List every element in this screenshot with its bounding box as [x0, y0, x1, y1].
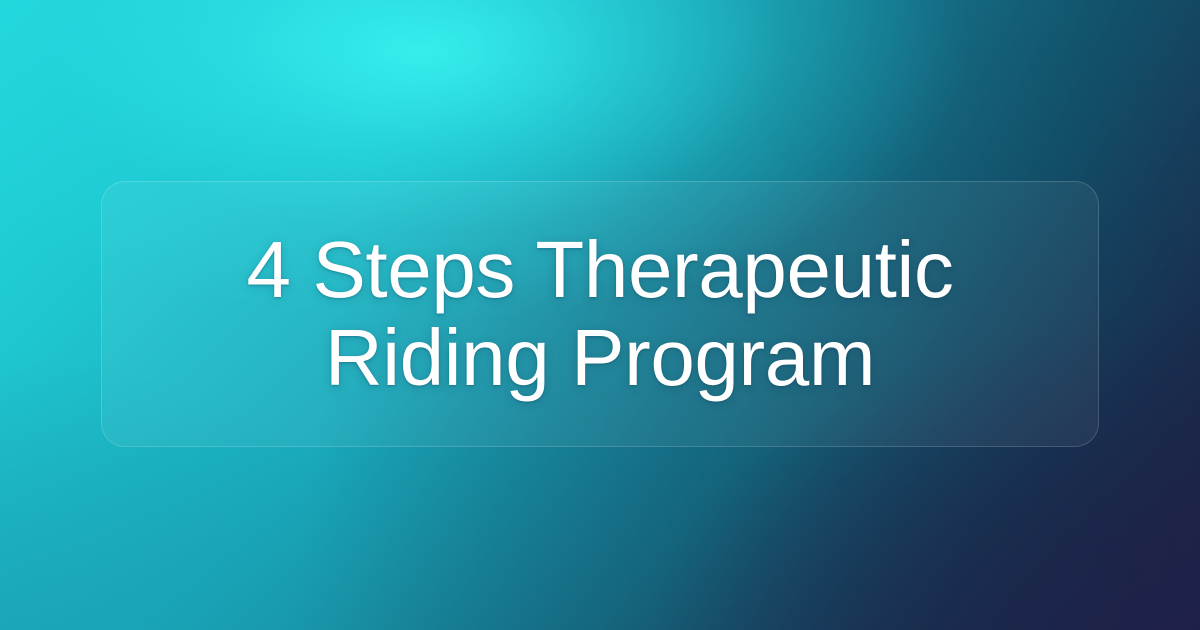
hero-panel: 4 Steps Therapeutic Riding Program [101, 181, 1099, 447]
social-share-card: 4 Steps Therapeutic Riding Program [0, 0, 1200, 630]
page-title: 4 Steps Therapeutic Riding Program [247, 226, 954, 402]
